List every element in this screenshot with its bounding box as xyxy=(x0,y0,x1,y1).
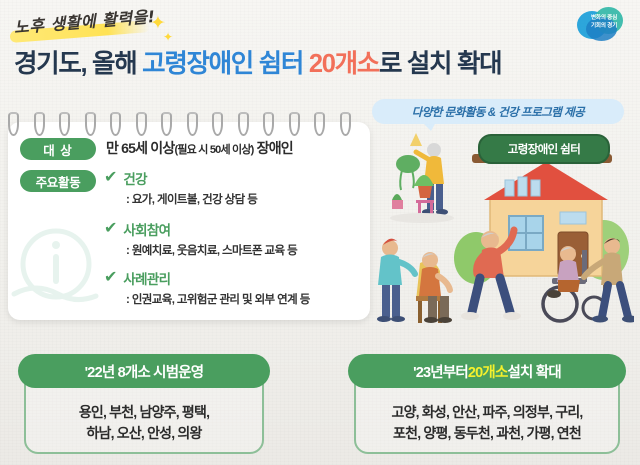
title-part-1: 경기도, 올해 xyxy=(14,50,142,78)
logo-line-2: 기회의 경기 xyxy=(577,22,631,30)
panel-2022: 용인, 부천, 남양주, 평택, 하남, 오산, 안성, 의왕 '22년 8개소… xyxy=(18,354,270,454)
info-watermark-icon xyxy=(10,220,102,320)
subtitle-bubble: 다양한 문화활동 & 건강 프로그램 제공 xyxy=(372,99,624,124)
spiral-ring xyxy=(110,112,121,136)
spiral-ring xyxy=(340,112,351,136)
activities-label-pill: 주요활동 xyxy=(20,170,96,192)
spiral-ring xyxy=(238,112,249,136)
panel-2023-caption-pre: '23년부터 xyxy=(413,361,468,382)
activity-desc-1: : 원예치료, 웃음치료, 스마트폰 교육 등 xyxy=(126,242,297,258)
activity-head-2: ✔ 사례관리 xyxy=(104,268,310,288)
logo-line-1: 변화의 중심 xyxy=(577,14,631,22)
infographic-canvas: 노후 생활에 활력을! ✦ ✦ 경기도, 올해 고령장애인 쉼터 20개소로 설… xyxy=(0,0,640,465)
panel-2022-line-1: 하남, 오산, 안성, 의왕 xyxy=(86,423,201,443)
panel-2023-caption-post: 설치 확대 xyxy=(508,361,561,382)
target-value-main: 만 65세 이상 xyxy=(106,140,174,156)
check-icon: ✔ xyxy=(104,270,117,286)
target-value-paren: (필요 시 50세 이상) xyxy=(174,144,253,156)
target-label-pill: 대 상 xyxy=(20,138,96,160)
spiral-ring xyxy=(34,112,45,136)
spiral-binding xyxy=(8,112,368,134)
activity-desc-2: : 인권교육, 고위험군 관리 및 외부 연계 등 xyxy=(126,291,310,307)
target-row: 대 상 만 65세 이상(필요 시 50세 이상) 장애인 xyxy=(20,138,293,160)
spiral-ring xyxy=(161,112,172,136)
illustration: 고령장애인 쉼터 xyxy=(372,128,634,324)
spiral-ring xyxy=(212,112,223,136)
activity-title-1: 사회참여 xyxy=(123,219,170,239)
panel-2022-line-0: 용인, 부천, 남양주, 평택, xyxy=(79,402,209,422)
target-value: 만 65세 이상(필요 시 50세 이상) 장애인 xyxy=(106,138,293,158)
panel-2023: 고양, 화성, 안산, 파주, 의정부, 구리, 포천, 양평, 동두천, 과천… xyxy=(348,354,626,454)
activity-head-0: ✔ 건강 xyxy=(104,168,257,188)
activity-title-0: 건강 xyxy=(123,168,146,188)
target-value-tail: 장애인 xyxy=(254,140,293,156)
check-icon: ✔ xyxy=(104,170,117,186)
panel-2023-caption-highlight: 20개소 xyxy=(468,361,508,382)
activity-item-0: ✔ 건강 : 요가, 게이트볼, 건강 상담 등 xyxy=(104,168,257,207)
panel-2023-caption: '23년부터 20개소 설치 확대 xyxy=(348,354,626,388)
info-notecard: 대 상 만 65세 이상(필요 시 50세 이상) 장애인 주요활동 ✔ 건강 … xyxy=(8,122,370,320)
spiral-ring xyxy=(85,112,96,136)
activity-item-1: ✔ 사회참여 : 원예치료, 웃음치료, 스마트폰 교육 등 xyxy=(104,219,297,258)
spiral-ring xyxy=(136,112,147,136)
panel-2022-caption: '22년 8개소 시범운영 xyxy=(18,354,270,388)
title-part-4: 로 설치 확대 xyxy=(379,50,501,78)
activities-label-row: 주요활동 xyxy=(20,170,96,192)
spiral-ring xyxy=(59,112,70,136)
activity-desc-0: : 요가, 게이트볼, 건강 상담 등 xyxy=(126,191,257,207)
gyeonggi-logo: 변화의 중심 기회의 경기 xyxy=(577,6,631,42)
page-title: 경기도, 올해 고령장애인 쉼터 20개소로 설치 확대 xyxy=(14,52,501,78)
panel-2023-line-0: 고양, 화성, 안산, 파주, 의정부, 구리, xyxy=(391,402,582,422)
bottom-section: 용인, 부천, 남양주, 평택, 하남, 오산, 안성, 의왕 '22년 8개소… xyxy=(0,330,640,465)
activity-item-2: ✔ 사례관리 : 인권교육, 고위험군 관리 및 외부 연계 등 xyxy=(104,268,310,307)
spiral-ring xyxy=(263,112,274,136)
check-icon: ✔ xyxy=(104,221,117,237)
house-roof xyxy=(484,162,608,200)
sparkle-small-icon: ✦ xyxy=(163,30,173,44)
spiral-ring xyxy=(289,112,300,136)
title-part-2: 고령장애인 쉼터 xyxy=(142,50,309,78)
figure-gardening xyxy=(390,133,454,223)
logo-text: 변화의 중심 기회의 경기 xyxy=(577,14,631,31)
shelter-sign-label: 고령장애인 쉼터 xyxy=(478,134,610,164)
activity-title-2: 사례관리 xyxy=(123,268,170,288)
spiral-ring xyxy=(8,112,19,136)
activity-head-1: ✔ 사회참여 xyxy=(104,219,297,239)
panel-2023-line-1: 포천, 양평, 동두천, 과천, 가평, 연천 xyxy=(393,423,581,443)
spiral-ring xyxy=(314,112,325,136)
spiral-ring xyxy=(187,112,198,136)
title-part-3: 20개소 xyxy=(309,50,379,78)
header: 노후 생활에 활력을! ✦ ✦ 경기도, 올해 고령장애인 쉼터 20개소로 설… xyxy=(0,0,640,100)
figure-caregiver-seated xyxy=(377,239,452,323)
